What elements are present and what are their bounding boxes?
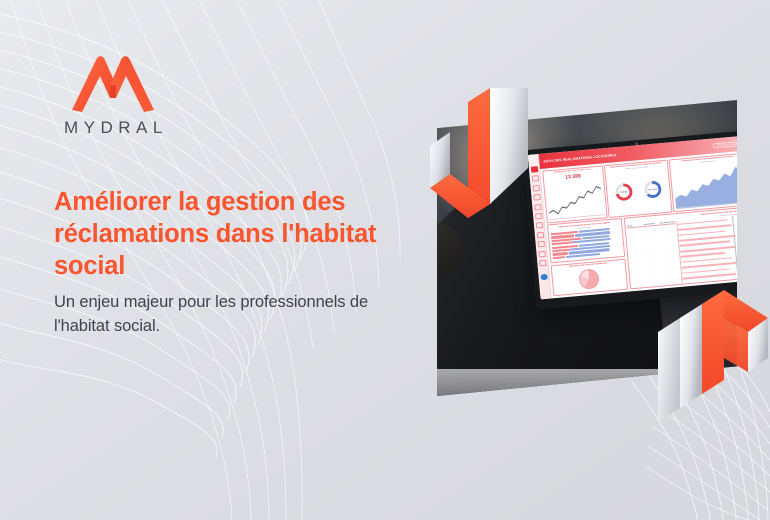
chevron-top-left-decoration [428,86,548,236]
cell-dossier: R02 [628,235,644,237]
cell-date: 12/01/2023 [660,226,676,228]
kpi-card: NOMBRE DE RECLAMATIONS TOTAL 13 286 [542,165,608,223]
gauge-traitees-label: Traitées [620,191,628,194]
cell-dossier: R10 [631,277,647,279]
gantt-timeline: Médiane : 23 j [676,214,737,282]
monitor-screen: SUIVI DES RECLAMATIONS LOCATAIRES Sélect… [528,136,737,300]
area-chart-plot [672,160,737,210]
cell-dossier: R03 [628,240,644,242]
table-card: Détail des réclamations avec délai de tr… [623,207,737,290]
list-icon[interactable] [537,241,545,248]
area-chart-card: Evolution du nombre de réclamations dans… [669,152,737,212]
chevron-bottom-right-decoration [656,280,770,425]
cell-numero: 10-21968 [646,260,662,262]
cell-numero: 10-21975 [647,265,663,267]
gauge-en-cours: En cours [644,180,662,198]
cell-numero: 10-21944 [645,249,661,251]
cell-dossier: R09 [631,272,647,274]
cell-dossier: R04 [629,245,645,247]
hero-visual: SUIVI DES RECLAMATIONS LOCATAIRES Sélect… [420,88,770,424]
kpi-sparkline [546,178,605,220]
export-icon[interactable] [539,260,547,267]
cell-dossier: R11 [632,282,648,284]
cell-date: 14/02/2023 [662,248,678,250]
page-title: Améliorer la gestion des réclamations da… [54,186,402,282]
cell-date: 09/03/2023 [663,264,679,266]
cell-dossier: R06 [629,256,645,258]
gauge-traitees: Traitées [615,183,633,201]
cell-date: 22/02/2023 [662,253,678,255]
gauges-group: Traitées En cours [607,167,669,215]
dashboard-left-column: Répartition des réclamations par motif e… [547,218,629,296]
dashboard-body: NOMBRE DE RECLAMATIONS TOTAL 13 286 [540,151,737,299]
cell-numero: 10-21902 [644,233,660,235]
cell-numero: 10-21996 [648,276,664,278]
cell-dossier: R01 [627,229,643,231]
brand-logo: MYDRAL [54,52,204,138]
cell-date: 16/03/2023 [664,269,680,271]
user-avatar-icon[interactable] [540,274,548,281]
gauge-en-cours-label: En cours [648,188,657,191]
cell-date: 27/01/2023 [661,237,677,239]
cell-numero: 10-21983 [647,270,663,272]
settings-icon[interactable] [538,250,546,257]
cell-dossier: R05 [629,251,645,253]
cell-date: 03/02/2023 [661,242,677,244]
dashboard-title: SUIVI DES RECLAMATIONS LOCATAIRES [543,153,616,163]
page-subtitle: Un enjeu majeur pour les professionnels … [54,290,384,338]
cell-numero: 10-21957 [646,254,662,256]
table-data[interactable]: Dossier Numéro affaire Date création aff… [627,221,681,287]
cell-numero: 10-21928 [645,244,661,246]
cell-dossier: R08 [630,267,646,269]
cell-dossier: R07 [630,261,646,263]
bar-chart-card: Répartition des réclamations par motif e… [547,218,626,263]
pie-chart [578,268,600,290]
cell-date: 24/03/2023 [664,274,680,276]
mydral-m-logo-icon [70,52,156,112]
cell-date: 01/03/2023 [663,258,679,260]
period-filter[interactable]: Sélectionner la période [712,141,737,149]
pie-chart-plot [553,264,625,294]
cell-numero: 10-21915 [645,239,661,241]
hero-text-column: MYDRAL Améliorer la gestion des réclamat… [54,52,414,138]
brand-wordmark: MYDRAL [64,118,204,138]
table-wrapper: Dossier Numéro affaire Date création aff… [627,214,737,287]
bar-chart-plot [550,226,622,261]
gauges-card: Répartition des réclamations par statut … [604,159,672,218]
cell-date: 19/01/2023 [661,232,677,234]
pie-chart-card: Répartition des motifs de réclamations [550,258,628,296]
dashboard-main: SUIVI DES RECLAMATIONS LOCATAIRES Sélect… [539,136,737,299]
cell-numero: 10-21891 [644,228,660,230]
